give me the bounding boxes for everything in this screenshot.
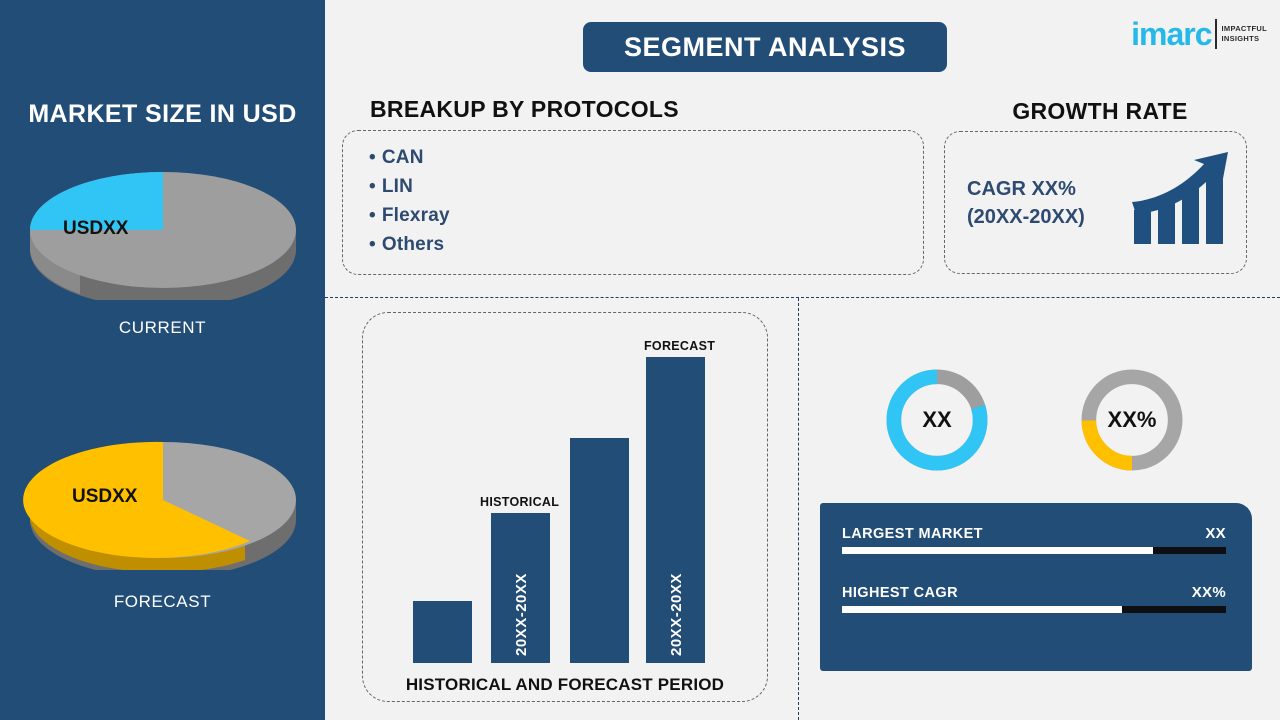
- bullet-icon: •: [369, 234, 376, 255]
- protocols-box: •CAN •LIN •Flexray •Others: [342, 130, 924, 275]
- logo-tagline: IMPACTFUL INSIGHTS: [1222, 24, 1267, 44]
- logo-tagline-line2: INSIGHTS: [1222, 34, 1267, 44]
- largest-market-donut-value: XX: [880, 407, 994, 433]
- protocol-label: LIN: [382, 176, 413, 197]
- chart-bar-3: [570, 438, 629, 663]
- protocols-heading: BREAKUP BY PROTOCOLS: [370, 96, 679, 123]
- forecast-pie-caption: FORECAST: [0, 592, 325, 612]
- stat-fill-largest-market: [842, 547, 1153, 554]
- logo-tagline-line1: IMPACTFUL: [1222, 24, 1267, 34]
- cagr-period: (20XX-20XX): [967, 203, 1085, 231]
- header: SEGMENT ANALYSIS imarc IMPACTFUL INSIGHT…: [325, 0, 1280, 90]
- growth-arrow-bars-icon: [1130, 150, 1232, 255]
- stat-label-highest-cagr: HIGHEST CAGR: [842, 585, 958, 601]
- bullet-icon: •: [369, 205, 376, 226]
- protocol-item-lin: •LIN: [369, 172, 923, 201]
- horizontal-divider: [325, 297, 1280, 298]
- vertical-divider: [798, 298, 799, 720]
- chart-bar-2-period: 20XX-20XX: [513, 573, 530, 656]
- protocol-label: Flexray: [382, 205, 450, 226]
- protocol-label: CAN: [382, 147, 424, 168]
- protocol-item-can: •CAN: [369, 143, 923, 172]
- logo-divider: [1215, 19, 1217, 49]
- protocol-item-flexray: •Flexray: [369, 201, 923, 230]
- highest-cagr-donut-value: XX%: [1075, 407, 1189, 433]
- stat-track-largest-market: [842, 547, 1226, 554]
- stat-value-highest-cagr: XX%: [1192, 584, 1226, 601]
- chart-bar-1: [413, 601, 472, 663]
- forecast-pie-chart: USDXX: [0, 440, 325, 570]
- current-pie-block: USDXX CURRENT: [0, 170, 325, 338]
- forecast-pie-value: USDXX: [72, 486, 137, 508]
- largest-market-donut: XX: [880, 363, 994, 477]
- current-pie-value: USDXX: [63, 218, 128, 240]
- bullet-icon: •: [369, 176, 376, 197]
- imarc-logo: imarc IMPACTFUL INSIGHTS: [1131, 12, 1267, 56]
- chart-x-axis-caption: HISTORICAL AND FORECAST PERIOD: [362, 675, 768, 695]
- protocol-item-others: •Others: [369, 230, 923, 259]
- highest-cagr-donut: XX%: [1075, 363, 1189, 477]
- stat-track-highest-cagr: [842, 606, 1226, 613]
- stat-fill-highest-cagr: [842, 606, 1122, 613]
- chart-annotation-forecast: FORECAST: [644, 339, 715, 353]
- page-title: SEGMENT ANALYSIS: [624, 32, 906, 63]
- cagr-value: CAGR XX%: [967, 175, 1085, 203]
- market-stats-panel: LARGEST MARKET XX HIGHEST CAGR XX%: [820, 503, 1252, 671]
- current-pie-caption: CURRENT: [0, 318, 325, 338]
- stat-value-largest-market: XX: [1205, 525, 1226, 542]
- current-pie-svg: [0, 170, 325, 300]
- current-pie-chart: USDXX: [0, 170, 325, 300]
- stat-label-largest-market: LARGEST MARKET: [842, 526, 983, 542]
- sidebar-title: MARKET SIZE IN USD: [0, 100, 325, 129]
- chart-bar-4-period: 20XX-20XX: [668, 573, 685, 656]
- forecast-pie-block: USDXX FORECAST: [0, 440, 325, 612]
- logo-wordmark: imarc: [1131, 18, 1211, 50]
- protocol-label: Others: [382, 234, 444, 255]
- sidebar: MARKET SIZE IN USD USDXX CURRENT: [0, 0, 325, 720]
- page-title-badge: SEGMENT ANALYSIS: [583, 22, 947, 72]
- chart-annotation-historical: HISTORICAL: [480, 495, 559, 509]
- stat-row-largest-market: LARGEST MARKET XX: [842, 525, 1226, 554]
- growth-rate-heading: GROWTH RATE: [940, 98, 1260, 125]
- forecast-pie-svg: [0, 440, 325, 570]
- bullet-icon: •: [369, 147, 376, 168]
- growth-rate-text: CAGR XX% (20XX-20XX): [967, 175, 1085, 231]
- growth-rate-box: CAGR XX% (20XX-20XX): [944, 131, 1247, 274]
- stat-row-highest-cagr: HIGHEST CAGR XX%: [842, 584, 1226, 613]
- historical-forecast-chart-panel: HISTORICAL 20XX-20XX FORECAST 20XX-20XX: [362, 312, 768, 702]
